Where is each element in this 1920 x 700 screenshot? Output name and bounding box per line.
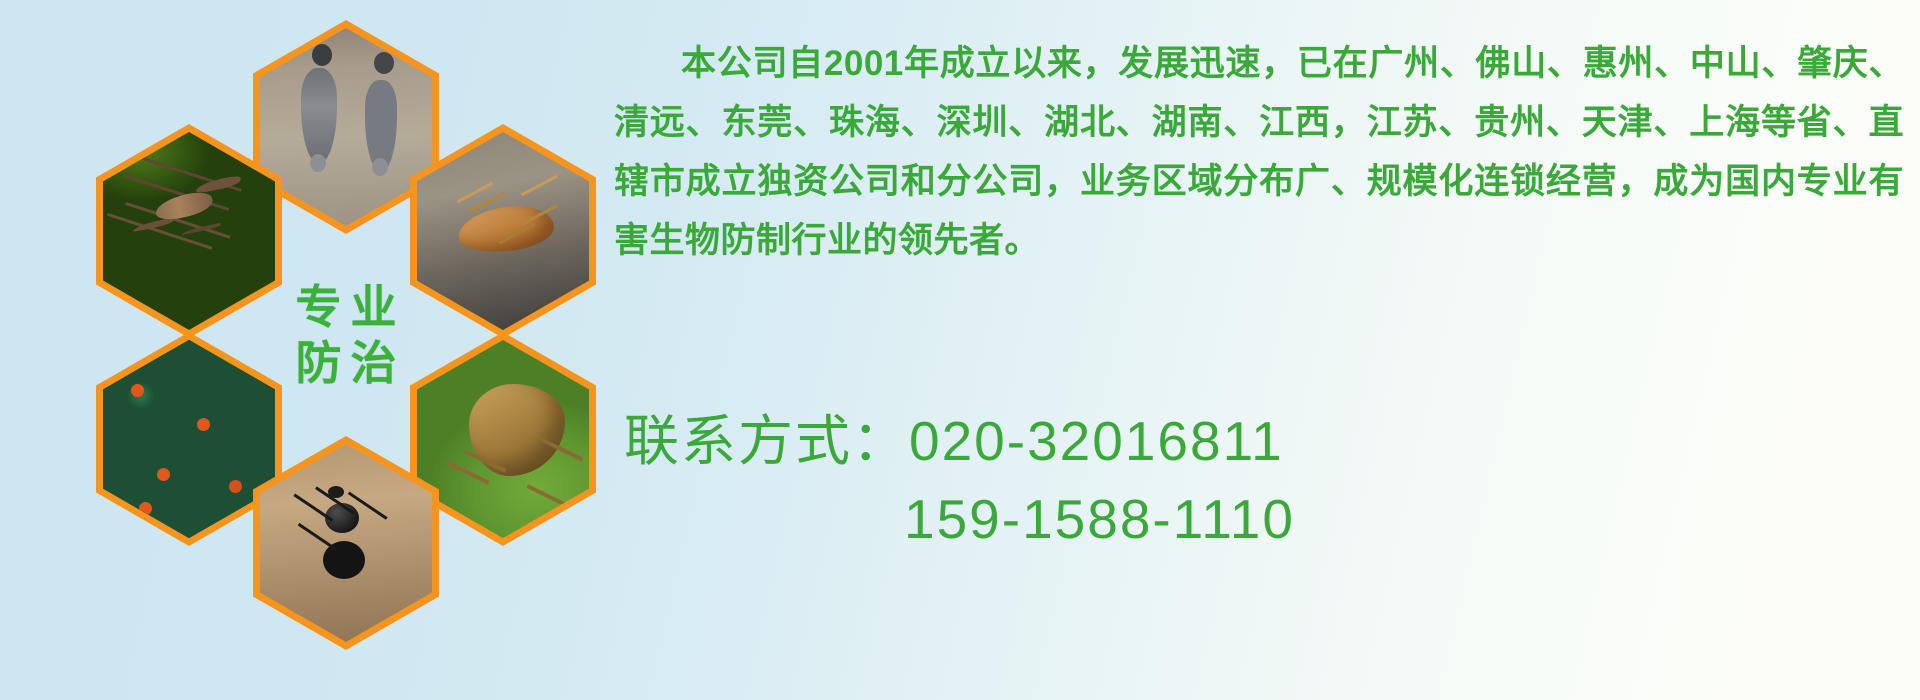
hex-cockroach-frame xyxy=(417,132,589,330)
cockroach-photo xyxy=(417,132,589,330)
contact-block: 联系方式：020-32016811 159-1588-1110 xyxy=(624,402,1874,558)
ant-photo xyxy=(260,444,432,642)
hex-rodents-frame xyxy=(260,28,432,226)
hex-mosquito-frame xyxy=(103,132,275,330)
company-intro-block: 本公司自2001年成立以来，发展迅速，已在广州、佛山、惠州、中山、肇庆、清远、东… xyxy=(614,34,1904,270)
rodents-photo xyxy=(260,28,432,226)
hex-stinkbug-frame xyxy=(417,340,589,538)
contact-phone-secondary[interactable]: 159-1588-1110 xyxy=(624,480,1874,558)
company-intro-paragraph: 本公司自2001年成立以来，发展迅速，已在广州、佛山、惠州、中山、肇庆、清远、东… xyxy=(614,34,1904,270)
flies-photo xyxy=(103,340,275,538)
stinkbug-photo xyxy=(417,340,589,538)
mosquito-photo xyxy=(103,132,275,330)
hex-flies-frame xyxy=(103,340,275,538)
contact-phone-primary[interactable]: 联系方式：020-32016811 xyxy=(624,402,1874,480)
honeycomb-pest-control-logo: 专业 防治 xyxy=(96,8,596,568)
promo-banner: 专业 防治 本公司自2001年成立以来，发展迅速，已在广州、佛山、惠州、中山、肇… xyxy=(0,0,1920,700)
logo-slogan-line-1: 专业 xyxy=(287,284,406,330)
logo-slogan-line-2: 防治 xyxy=(287,340,406,386)
hex-ant-frame xyxy=(260,444,432,642)
